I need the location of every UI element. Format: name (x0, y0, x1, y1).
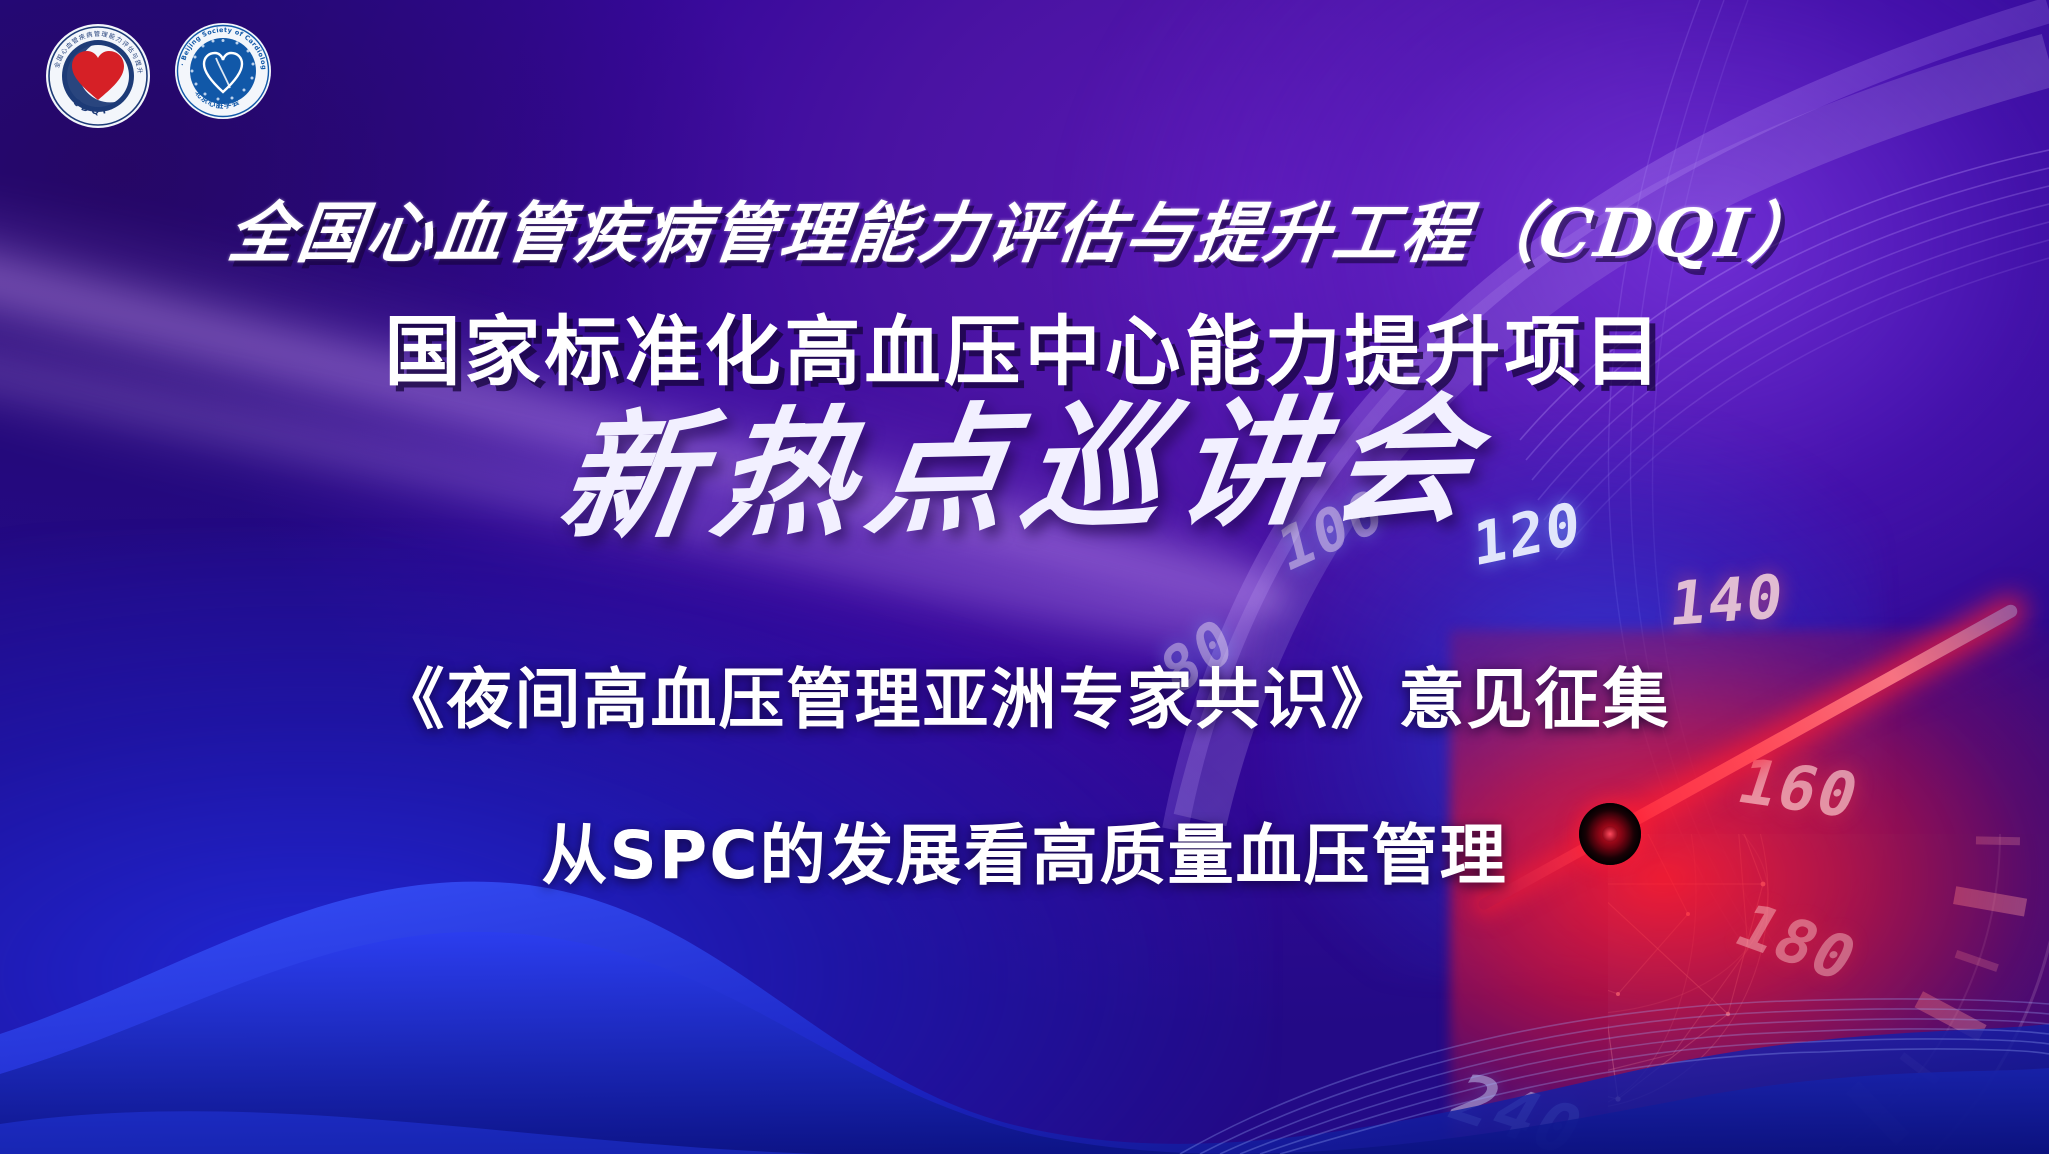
project-title: 国家标准化高血压中心能力提升项目 (0, 290, 2049, 400)
cdqi-logo[interactable]: 全国心血管疾病管理能力评估与提升工程 CDQI 全国心血管疾病管理能力评估与提升… (44, 22, 152, 135)
bsc-logo-icon: · Beijing Society of Cardiology · 北京心脏学会 (174, 22, 272, 120)
logo-group: 全国心血管疾病管理能力评估与提升工程 CDQI 全国心血管疾病管理能力评估与提升… (44, 22, 272, 135)
subtitle-topic: 从SPC的发展看高质量血压管理 (0, 802, 2049, 898)
cdqi-logo-icon: 全国心血管疾病管理能力评估与提升工程 CDQI (44, 22, 152, 130)
poster-canvas: 80 100 120 140 160 180 240 (0, 0, 2049, 1154)
subtitle-consensus: 《夜间高血压管理亚洲专家共识》意见征集 (0, 646, 2049, 742)
bsc-logo[interactable]: · Beijing Society of Cardiology · 北京心脏学会… (174, 22, 272, 125)
program-title-brush: 全国心血管疾病管理能力评估与提升工程（CDQI） (0, 180, 2049, 276)
